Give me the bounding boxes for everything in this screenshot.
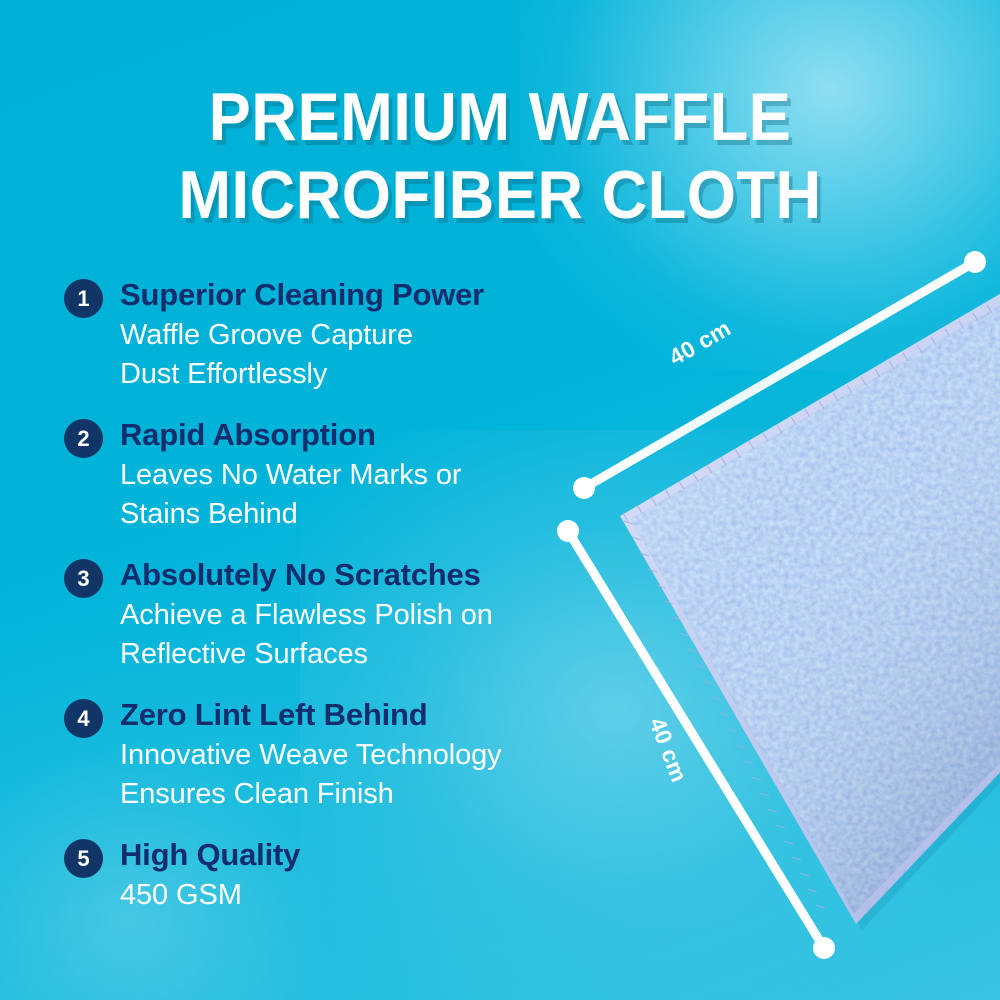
feature-item-3: 3 Absolutely No Scratches Achieve a Flaw… (64, 556, 584, 674)
feature-badge-4: 4 (64, 699, 103, 738)
title-line-1: PREMIUM WAFFLE (35, 78, 965, 156)
feature-desc-5: 450 GSM (120, 876, 584, 915)
feature-item-4: 4 Zero Lint Left Behind Innovative Weave… (64, 696, 584, 814)
feature-title-4: Zero Lint Left Behind (120, 696, 584, 734)
feature-desc-3: Achieve a Flawless Polish on Reflective … (120, 596, 584, 674)
feature-badge-3: 3 (64, 559, 103, 598)
feature-item-1: 1 Superior Cleaning Power Waffle Groove … (64, 276, 584, 394)
feature-desc-1: Waffle Groove Capture Dust Effortlessly (120, 316, 584, 394)
feature-badge-2: 2 (64, 419, 103, 458)
page-title: PREMIUM WAFFLE MICROFIBER CLOTH (0, 78, 1000, 234)
feature-badge-5: 5 (64, 839, 103, 878)
feature-desc-2: Leaves No Water Marks or Stains Behind (120, 456, 584, 534)
feature-desc-3-line-1: Achieve a Flawless Polish on (120, 596, 584, 635)
feature-desc-3-line-2: Reflective Surfaces (120, 635, 584, 674)
feature-list: 1 Superior Cleaning Power Waffle Groove … (64, 276, 584, 915)
feature-desc-2-line-1: Leaves No Water Marks or (120, 456, 584, 495)
dimension-line-top (573, 251, 986, 499)
feature-desc-4-line-2: Ensures Clean Finish (120, 775, 584, 814)
product-infographic: 40 cm 40 cm PREMIUM WAFFLE MICROFIBER CL… (0, 0, 1000, 1000)
feature-desc-2-line-2: Stains Behind (120, 495, 584, 534)
feature-title-2: Rapid Absorption (120, 416, 584, 454)
feature-desc-4-line-1: Innovative Weave Technology (120, 736, 584, 775)
feature-item-2: 2 Rapid Absorption Leaves No Water Marks… (64, 416, 584, 534)
feature-title-5: High Quality (120, 836, 584, 874)
feature-desc-4: Innovative Weave Technology Ensures Clea… (120, 736, 584, 814)
feature-badge-1: 1 (64, 279, 103, 318)
feature-item-5: 5 High Quality 450 GSM (64, 836, 584, 915)
feature-title-1: Superior Cleaning Power (120, 276, 584, 314)
dimension-line-left (557, 520, 835, 959)
feature-desc-5-line-1: 450 GSM (120, 876, 584, 915)
title-line-2: MICROFIBER CLOTH (35, 156, 965, 234)
feature-desc-1-line-2: Dust Effortlessly (120, 355, 584, 394)
feature-desc-1-line-1: Waffle Groove Capture (120, 316, 584, 355)
feature-title-3: Absolutely No Scratches (120, 556, 584, 594)
